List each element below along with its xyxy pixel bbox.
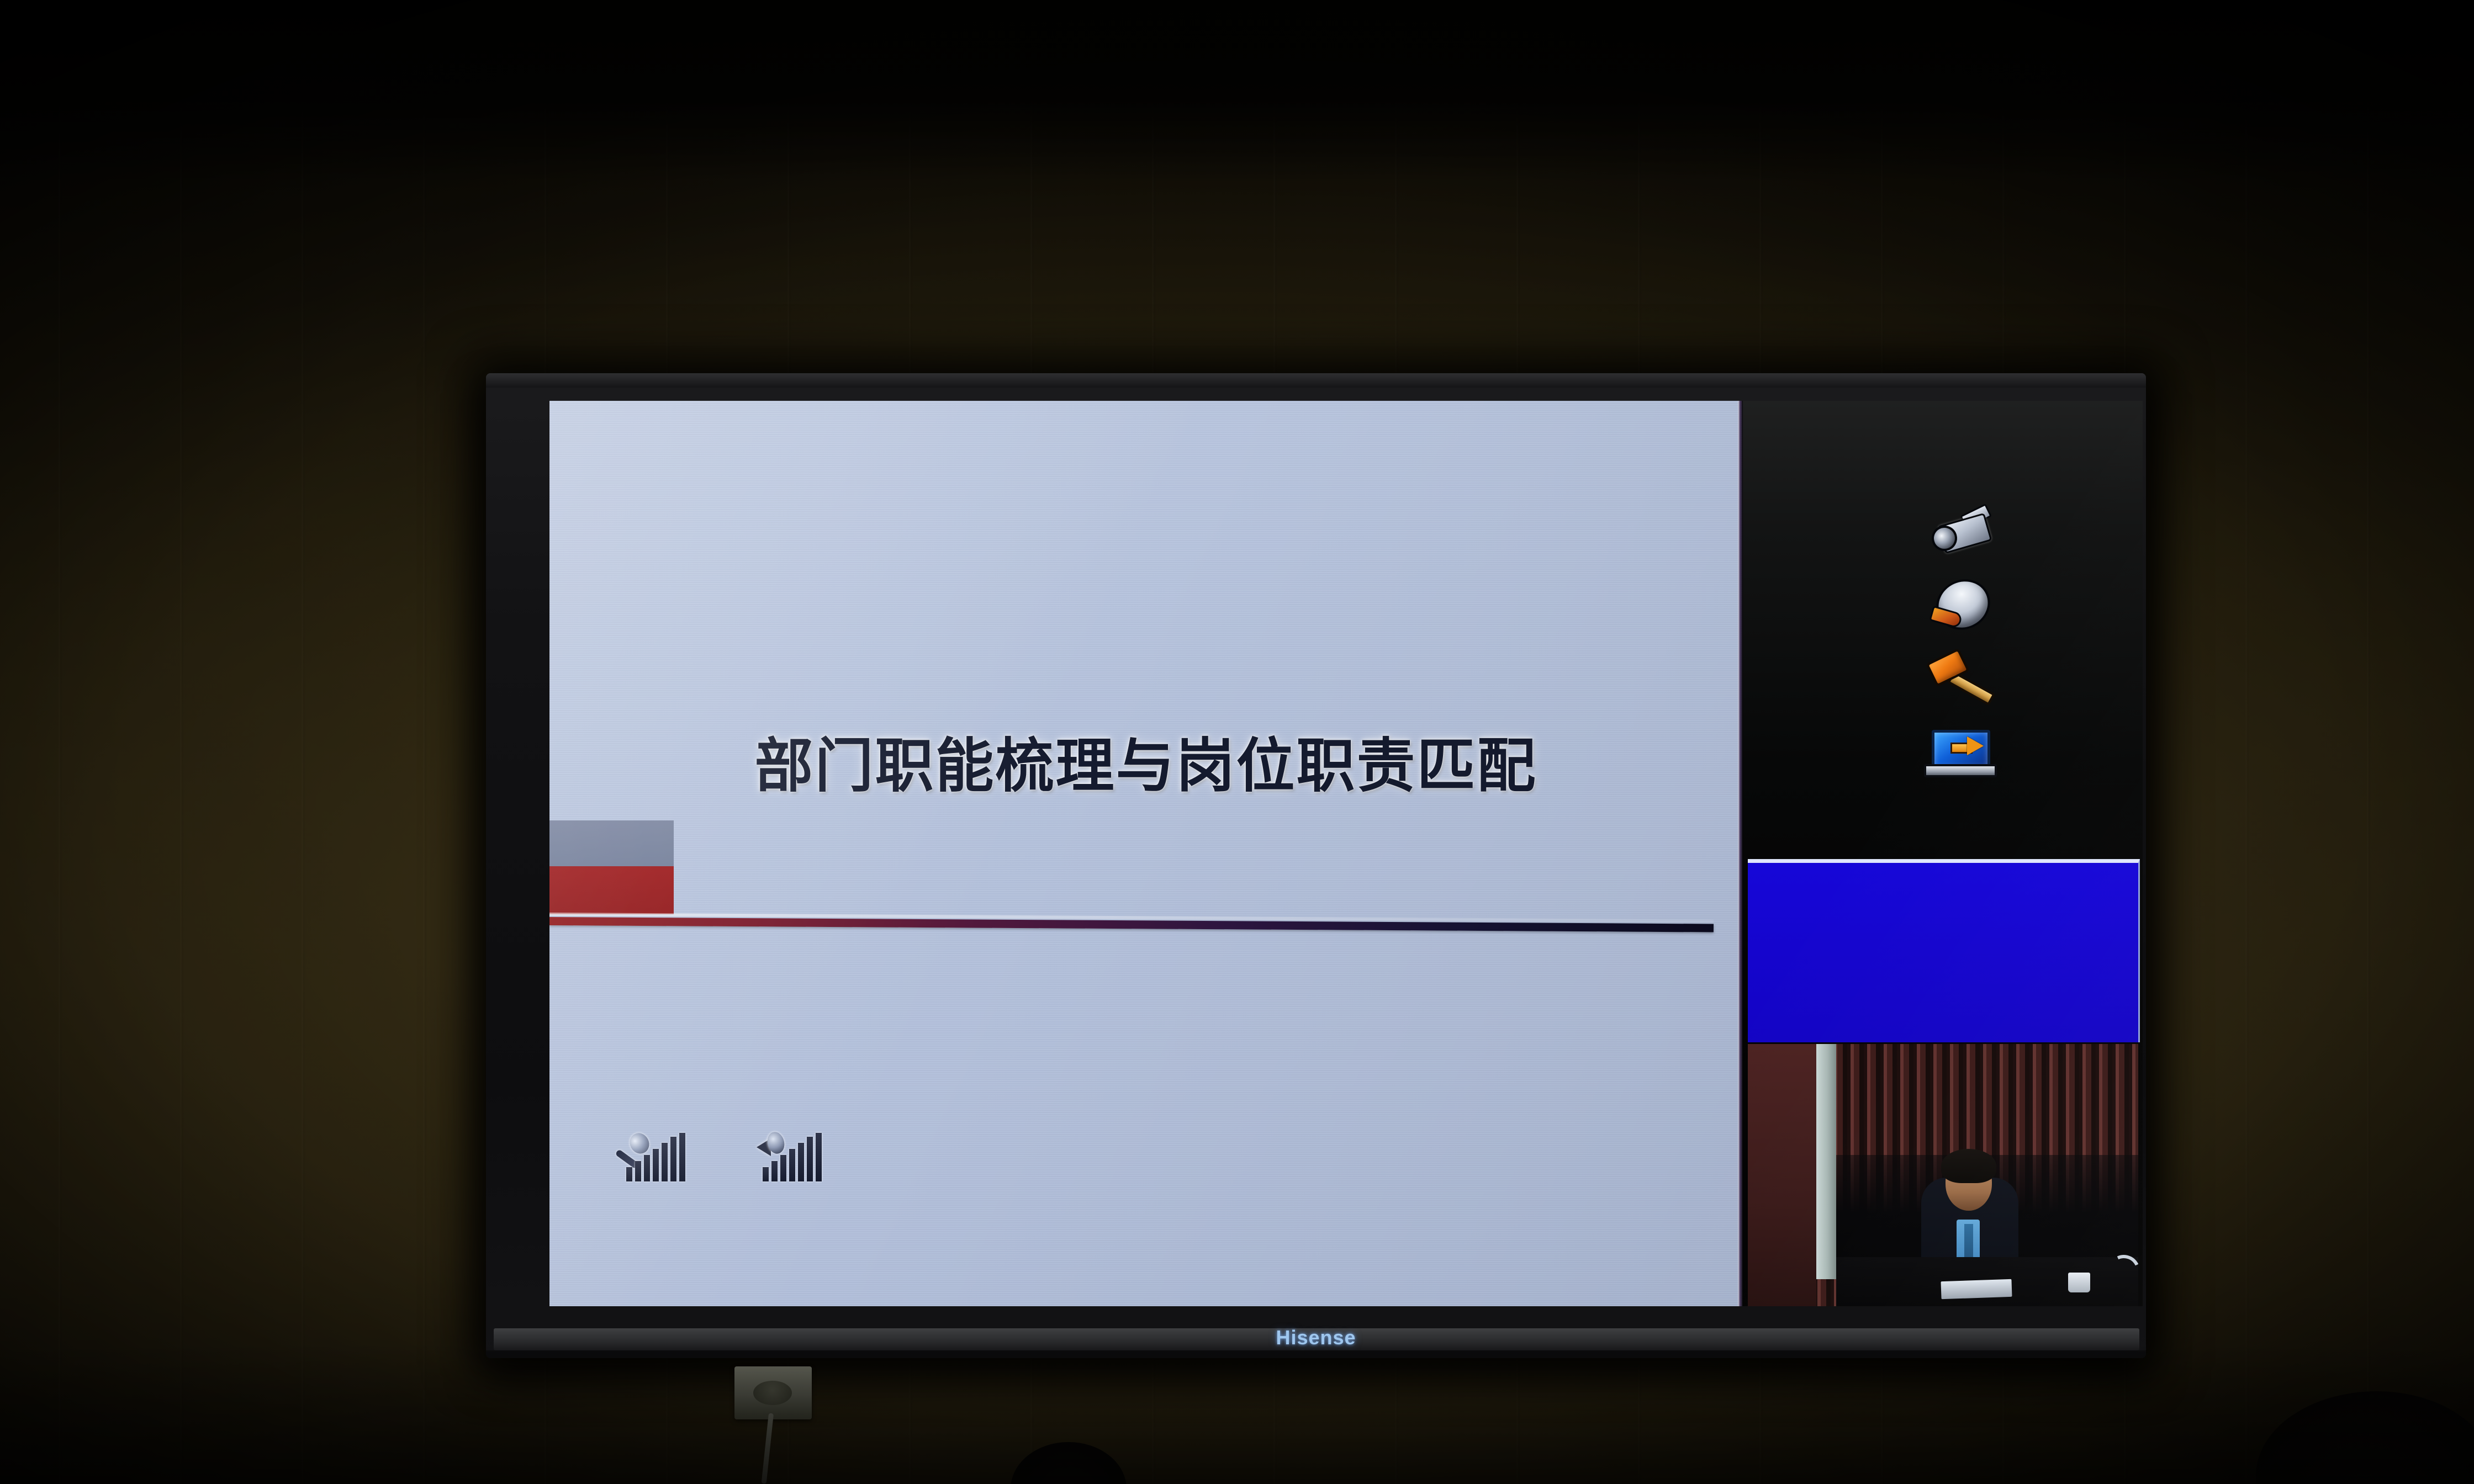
display-top-bezel bbox=[486, 373, 2146, 388]
slide-title: 部门职能梳理与岗位职责匹配 bbox=[549, 718, 1742, 803]
slide-status-icon-row bbox=[617, 1128, 822, 1181]
parabolic-microphone-icon[interactable] bbox=[1922, 573, 2005, 638]
laptop-exit-icon[interactable] bbox=[1922, 719, 2005, 784]
decor-block-top bbox=[549, 820, 674, 866]
screenshot-root: 部门职能梳理与岗位职责匹配 bbox=[0, 0, 2474, 1484]
speaker-level-icon bbox=[753, 1128, 822, 1181]
microphone-level-icon bbox=[617, 1128, 686, 1181]
no-signal-window[interactable] bbox=[1748, 859, 2140, 1042]
feed-pillar bbox=[1816, 1044, 1836, 1279]
wall-mounted-display[interactable]: 部门职能梳理与岗位职责匹配 bbox=[486, 373, 2146, 1358]
wall-outlet bbox=[734, 1366, 812, 1419]
conference-toolbar[interactable] bbox=[1922, 500, 2010, 784]
feed-cup bbox=[2068, 1273, 2090, 1292]
dish-reflector-icon bbox=[1928, 573, 1999, 636]
feed-desk bbox=[1836, 1257, 2138, 1306]
display-brand-logo: Hisense bbox=[1276, 1326, 1356, 1349]
display-lower-skirt bbox=[486, 1350, 2146, 1358]
feed-papers bbox=[1941, 1279, 2012, 1299]
wall-outlet-socket bbox=[753, 1381, 792, 1405]
slide-decor-block bbox=[549, 820, 674, 914]
panel-divider bbox=[1738, 401, 1743, 1306]
decor-block-bottom bbox=[549, 866, 674, 914]
presentation-slide[interactable]: 部门职能梳理与岗位职责匹配 bbox=[549, 401, 1742, 1306]
exit-arrow-icon bbox=[1950, 739, 1983, 753]
signal-bars-icon bbox=[626, 1133, 686, 1181]
participant-hair bbox=[1941, 1149, 1996, 1183]
display-screen[interactable]: 部门职能梳理与岗位职责匹配 bbox=[549, 401, 2143, 1306]
gavel-icon[interactable] bbox=[1922, 646, 2005, 711]
video-camera-icon[interactable] bbox=[1922, 500, 2005, 565]
signal-bars-icon bbox=[763, 1133, 822, 1181]
feed-left-wall bbox=[1748, 1044, 1816, 1306]
remote-participant-feed[interactable] bbox=[1748, 1044, 2138, 1306]
laptop-base-icon bbox=[1924, 764, 1997, 777]
